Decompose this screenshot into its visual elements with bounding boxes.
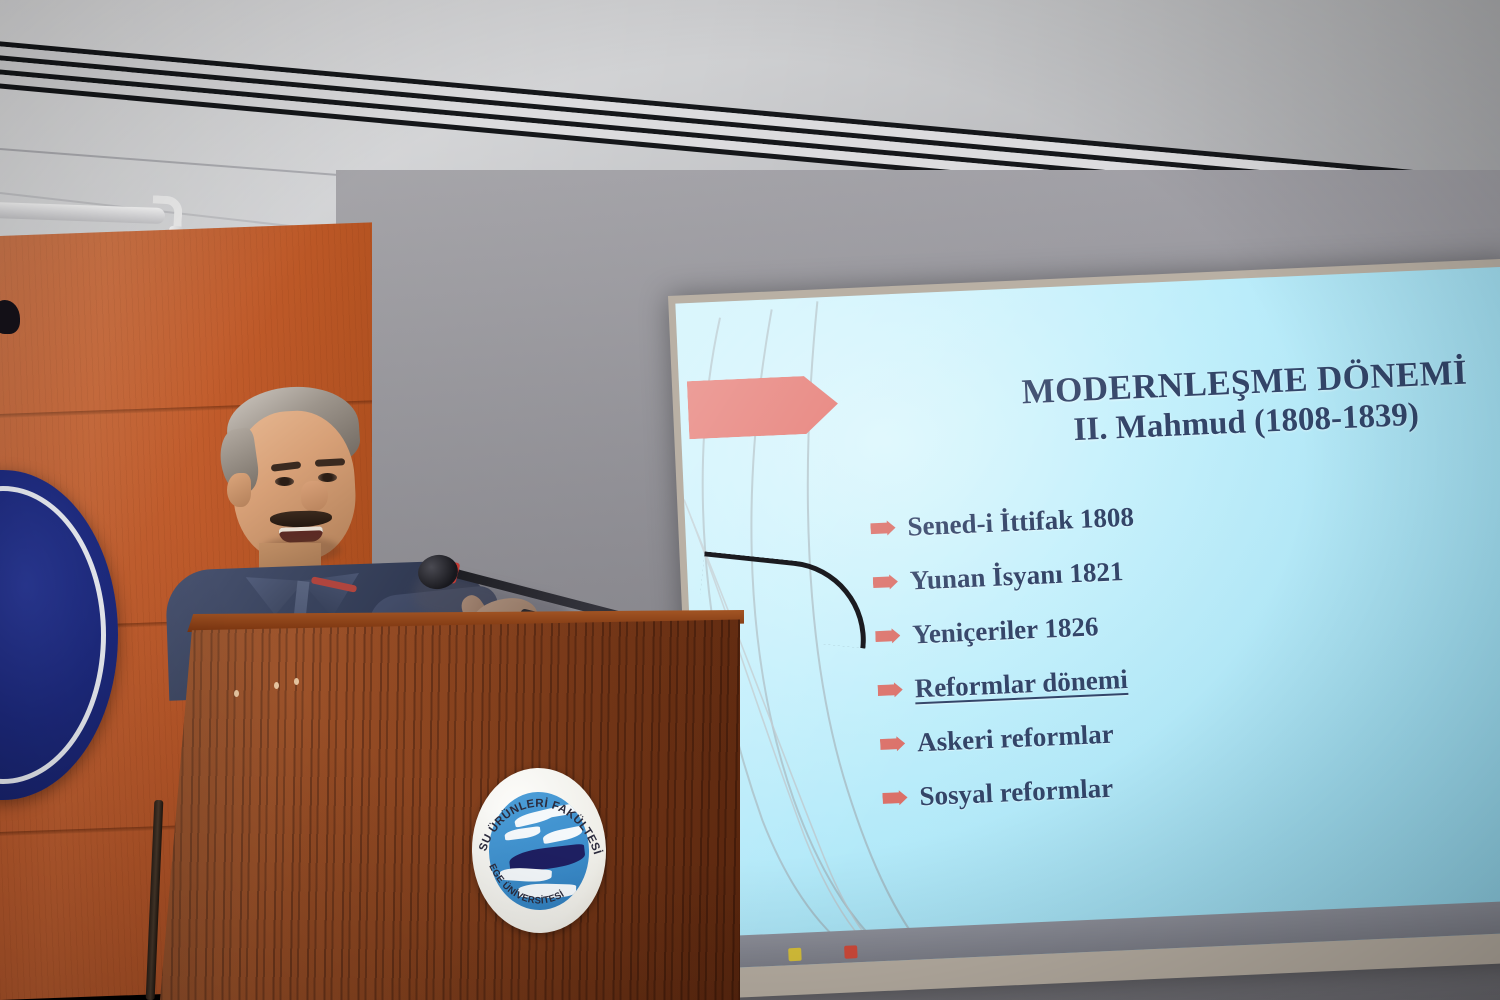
arrow-bullet-icon — [870, 520, 896, 536]
svg-text:SU ÜRÜNLERİ FAKÜLTESİ: SU ÜRÜNLERİ FAKÜLTESİ — [476, 796, 604, 860]
bullet-label: Yeniçeriler 1826 — [912, 611, 1099, 650]
podium-gloss — [160, 618, 740, 1000]
arrow-bullet-icon — [880, 736, 906, 752]
wall-university-logo: SİTESİ — [0, 470, 118, 800]
arrow-bullet-icon — [877, 682, 903, 698]
taskbar-icon-red — [844, 945, 858, 959]
list-item: Yunan İsyanı 1821 — [872, 540, 1493, 599]
wall-logo-text: SİTESİ — [0, 470, 118, 800]
speaker-nose — [301, 481, 328, 511]
arrow-bullet-icon — [882, 790, 908, 806]
speaker-eye-right — [318, 473, 337, 482]
svg-text:EGE ÜNİVERSİTESİ: EGE ÜNİVERSİTESİ — [486, 860, 566, 908]
svg-text:SİTESİ: SİTESİ — [88, 500, 118, 663]
slide-bullet-list: Sened-i İttifak 1808 Yunan İsyanı 1821 Y… — [870, 486, 1500, 837]
arrow-bullet-icon — [875, 628, 901, 644]
list-item: Sosyal reformlar — [882, 755, 1500, 814]
arrow-bullet-icon — [873, 574, 899, 590]
podium-logo-bottom-text: EGE ÜNİVERSİTESİ — [486, 860, 566, 908]
podium-logo-top-text: SU ÜRÜNLERİ FAKÜLTESİ — [476, 796, 604, 860]
bullet-label: Askeri reformlar — [916, 719, 1114, 759]
podium-faculty-logo: SU ÜRÜNLERİ FAKÜLTESİ EGE ÜNİVERSİTESİ — [470, 766, 608, 934]
podium-highlight-dot — [294, 678, 299, 685]
bullet-label: Sosyal reformlar — [919, 773, 1114, 813]
list-item: Yeniçeriler 1826 — [875, 594, 1496, 653]
bullet-label: Yunan İsyanı 1821 — [909, 556, 1124, 596]
slide-title: MODERNLEŞME DÖNEMİ II. Mahmud (1808-1839… — [979, 351, 1500, 455]
speaker-eye-left — [275, 477, 294, 486]
lecture-hall-scene: SİTESİ MODERNLEŞME DÖN — [0, 0, 1500, 1000]
podium-highlight-dot — [234, 690, 239, 697]
speaker-ear — [227, 473, 251, 507]
bullet-label-highlighted: Reformlar dönemi — [914, 664, 1128, 704]
podium-logo-text: SU ÜRÜNLERİ FAKÜLTESİ EGE ÜNİVERSİTESİ — [470, 766, 608, 934]
podium-highlight-dot — [274, 682, 279, 689]
list-item: Reformlar dönemi — [877, 647, 1498, 706]
wall-logo-visible-text: SİTESİ — [88, 500, 118, 663]
taskbar-icon-yellow — [788, 948, 802, 962]
list-item: Askeri reformlar — [879, 701, 1500, 760]
